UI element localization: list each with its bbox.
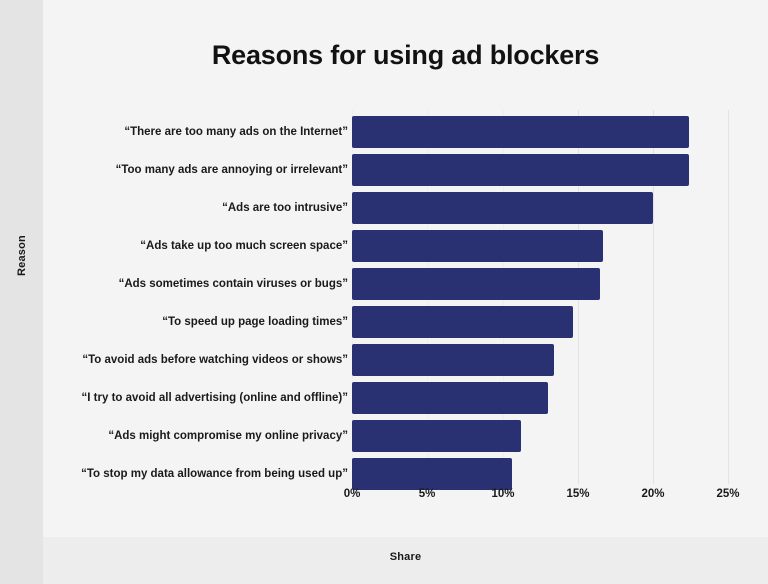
x-axis-tick-label: 10%	[491, 488, 514, 500]
x-axis-tick-label: 25%	[716, 488, 739, 500]
bar-row: “Ads are too intrusive”	[0, 189, 768, 227]
bar-row: “Too many ads are annoying or irrelevant…	[0, 151, 768, 189]
bar-row: “There are too many ads on the Internet”	[0, 113, 768, 151]
bar-category-label: “I try to avoid all advertising (online …	[82, 379, 348, 417]
bar	[352, 382, 548, 414]
bar	[352, 154, 689, 186]
bar	[352, 268, 600, 300]
bar-row: “To avoid ads before watching videos or …	[0, 341, 768, 379]
bar-row: “Ads might compromise my online privacy”	[0, 417, 768, 455]
bar	[352, 192, 653, 224]
bar-category-label: “To speed up page loading times”	[162, 303, 348, 341]
bar	[352, 306, 573, 338]
bar-category-label: “Ads sometimes contain viruses or bugs”	[119, 265, 348, 303]
bar-category-label: “Too many ads are annoying or irrelevant…	[116, 151, 348, 189]
bar	[352, 230, 603, 262]
x-axis-tick-label: 0%	[344, 488, 361, 500]
bar-category-label: “Ads might compromise my online privacy”	[108, 417, 348, 455]
bar-row: “Ads take up too much screen space”	[0, 227, 768, 265]
chart-page: Reasons for using ad blockers Reason Sha…	[0, 0, 768, 584]
x-axis-tick-label: 5%	[419, 488, 436, 500]
bar-category-label: “To stop my data allowance from being us…	[81, 455, 348, 493]
bar	[352, 116, 689, 148]
bar-category-label: “There are too many ads on the Internet”	[124, 113, 348, 151]
bar-category-label: “Ads take up too much screen space”	[140, 227, 348, 265]
bar-category-label: “Ads are too intrusive”	[222, 189, 348, 227]
bar-category-label: “To avoid ads before watching videos or …	[82, 341, 348, 379]
plot-area: “There are too many ads on the Internet”…	[0, 0, 768, 584]
bar	[352, 458, 512, 490]
bar-row: “To speed up page loading times”	[0, 303, 768, 341]
bar-row: “Ads sometimes contain viruses or bugs”	[0, 265, 768, 303]
bar-row: “I try to avoid all advertising (online …	[0, 379, 768, 417]
bar	[352, 344, 554, 376]
bar	[352, 420, 521, 452]
x-axis-tick-label: 15%	[566, 488, 589, 500]
x-axis-tick-label: 20%	[641, 488, 664, 500]
